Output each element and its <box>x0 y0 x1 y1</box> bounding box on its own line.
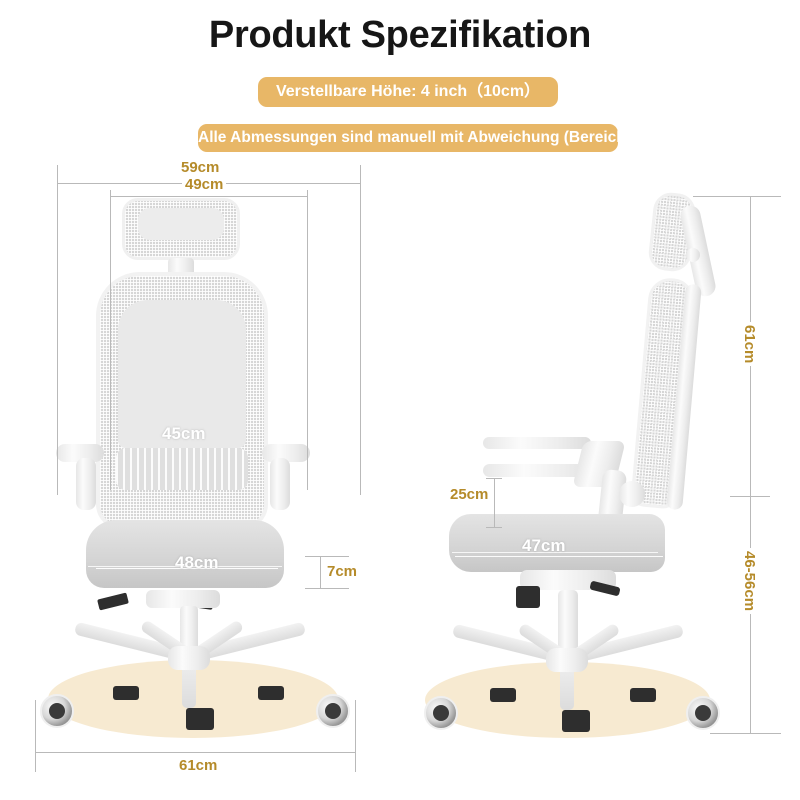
dim-label-seat-depth: 47cm <box>519 536 568 556</box>
dim-tick-backrest-width-left <box>110 190 111 490</box>
front-headrest-pad <box>138 208 224 240</box>
side-caster-mid-left <box>490 688 516 702</box>
dim-label-seat-height-range: 46-56cm <box>741 548 758 614</box>
side-caster-right-outer-hub <box>695 705 711 721</box>
dim-line-backrest-width <box>110 196 308 197</box>
dim-tick-seat-thickness-bottom <box>305 588 349 589</box>
side-caster-mid-right <box>630 688 656 702</box>
dim-line-seat-thickness <box>320 556 321 588</box>
dim-label-seat-width: 48cm <box>172 553 221 573</box>
dim-label-lumbar-width: 45cm <box>159 424 208 444</box>
front-base-hub <box>168 646 210 670</box>
front-caster-mid-left <box>113 686 139 700</box>
dim-extension-floor-level <box>710 733 781 734</box>
page-title: Produkt Spezifikation <box>0 14 800 57</box>
dim-line-armrest-height <box>494 478 495 528</box>
dim-tick-base-width-left <box>35 700 36 772</box>
front-caster-left-outer-hub <box>49 703 65 719</box>
dim-tick-backrest-width-right <box>307 190 308 490</box>
side-gas-cylinder <box>558 590 578 656</box>
dim-line-seat-height-range <box>750 496 751 733</box>
dim-tick-armrest-height-top <box>486 478 502 479</box>
dim-label-armrest-height: 25cm <box>447 486 491 503</box>
dim-tick-overall-width-right <box>360 165 361 495</box>
dim-label-seat-thickness: 7cm <box>324 563 360 580</box>
dim-line-base-width <box>35 752 356 753</box>
front-caster-right-outer-hub <box>325 703 341 719</box>
front-armrest-right-post <box>270 458 290 510</box>
side-armrest-top <box>483 437 591 449</box>
dim-label-backrest-width: 49cm <box>182 176 226 193</box>
front-caster-mid-right <box>258 686 284 700</box>
dim-label-base-width: 61cm <box>176 757 220 774</box>
product-specification-page: Produkt Spezifikation Verstellbare Höhe:… <box>0 0 800 800</box>
dim-label-overall-width: 59cm <box>178 159 222 176</box>
badge-adjustable-height: Verstellbare Höhe: 4 inch（10cm） <box>258 77 558 107</box>
side-backrest-pivot <box>619 481 645 507</box>
side-caster-left-outer-hub <box>433 705 449 721</box>
front-lumbar-support <box>116 448 248 490</box>
side-headrest-joint <box>686 248 700 262</box>
dim-tick-base-width-right <box>355 700 356 772</box>
side-tilt-lever <box>516 586 540 608</box>
front-armrest-left-post <box>76 458 96 510</box>
side-caster-front-center <box>562 710 590 732</box>
side-base-hub <box>546 648 588 672</box>
dim-tick-armrest-height-bottom <box>486 527 502 528</box>
front-tilt-lever-left <box>97 593 129 611</box>
dim-tick-seat-thickness-top <box>305 556 349 557</box>
front-caster-front-center <box>186 708 214 730</box>
dim-label-backrest-height: 61cm <box>741 322 758 366</box>
dim-line-seat-depth <box>455 556 663 557</box>
badge-measurement-disclaimer: Alle Abmessungen sind manuell mit Abweic… <box>198 124 618 152</box>
dim-extension-backrest-top <box>693 196 781 197</box>
dim-tick-overall-width-left <box>57 165 58 495</box>
